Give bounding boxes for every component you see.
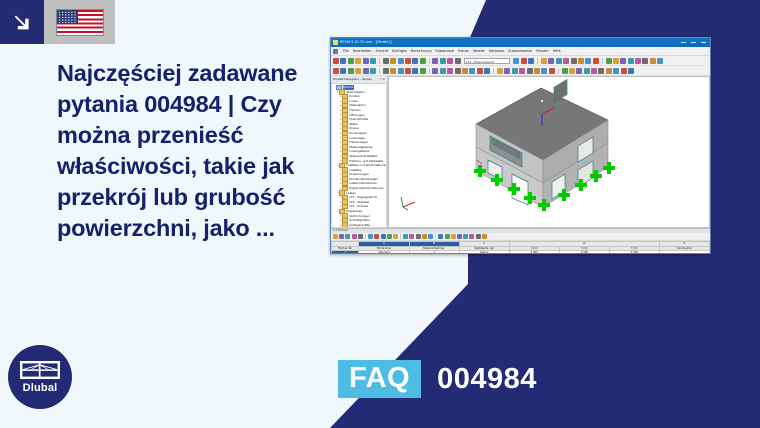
- table-toolbar-button[interactable]: [393, 234, 398, 239]
- table-toolbar[interactable]: [331, 233, 710, 241]
- workspace: Projekt-Navigator - Zeiger ⌐× -Model1+St…: [331, 76, 710, 228]
- toolbar-button[interactable]: [519, 68, 525, 74]
- table-toolbar-button[interactable]: [428, 234, 433, 239]
- folder-icon: [339, 227, 345, 228]
- toolbar-button[interactable]: [432, 58, 438, 64]
- toolbar-button[interactable]: [420, 68, 426, 74]
- toolbar-button[interactable]: [412, 68, 418, 74]
- table-toolbar-button[interactable]: [368, 234, 373, 239]
- table-toolbar-button[interactable]: [463, 234, 468, 239]
- toolbar-button[interactable]: [576, 68, 582, 74]
- toolbar-button[interactable]: [584, 68, 590, 74]
- truss-frame-icon: [20, 361, 60, 382]
- window-controls[interactable]: [681, 42, 708, 43]
- toolbar-separator: [379, 58, 380, 64]
- table-toolbar-button[interactable]: [381, 234, 386, 239]
- arrow-down-right-icon[interactable]: [0, 0, 44, 44]
- table-cell[interactable]: [659, 251, 709, 254]
- table-cell[interactable]: Isotrop: [459, 251, 509, 254]
- menu-item[interactable]: Zusatzmodule: [508, 47, 532, 55]
- table-row[interactable]: 1Standard1Isotrop0.3000.3000.300: [332, 251, 710, 254]
- toolbar-button[interactable]: [420, 58, 426, 64]
- faq-badge: FAQ: [338, 360, 421, 398]
- navigator-title-text: Projekt-Navigator - Zeiger: [333, 76, 372, 83]
- model-viewport[interactable]: [388, 76, 710, 228]
- top-left-badge-row: [0, 0, 115, 44]
- toolbar-button[interactable]: [390, 58, 396, 64]
- toolbar-button[interactable]: [462, 68, 468, 74]
- toolbar-button[interactable]: [562, 68, 568, 74]
- menu-item[interactable]: Fenster: [536, 47, 549, 55]
- application-window[interactable]: RFEM 5.21.01.xxx - [Model1] Plik Bearbei…: [330, 37, 711, 254]
- toolbar-separator: [558, 68, 559, 74]
- table-toolbar-button[interactable]: [476, 234, 481, 239]
- tree-node-label: Ausdruckprotokoll: [346, 227, 372, 228]
- toolbar-button[interactable]: [383, 68, 389, 74]
- toolbar-button[interactable]: [548, 58, 554, 64]
- maximize-icon[interactable]: [691, 42, 696, 43]
- toolbar-button[interactable]: [432, 68, 438, 74]
- flag-stars: [58, 11, 77, 24]
- toolbar-separator: [537, 58, 538, 64]
- table-toolbar-button[interactable]: [451, 234, 456, 239]
- toolbar-button[interactable]: [585, 58, 591, 64]
- table-toolbar-button[interactable]: [333, 234, 338, 239]
- table-toolbar-button[interactable]: [409, 234, 414, 239]
- toolbar-button[interactable]: [477, 68, 483, 74]
- menu-item[interactable]: Optionen: [489, 47, 505, 55]
- navigator-tree[interactable]: -Model1+Stammdaten+Knoten+Linien+Materia…: [331, 84, 387, 228]
- toolbar-button[interactable]: [628, 58, 634, 64]
- toolbar-button[interactable]: [363, 58, 369, 64]
- toolbar-button[interactable]: [348, 68, 354, 74]
- toolbar-separator: [429, 68, 430, 74]
- toolbar-button[interactable]: [440, 68, 446, 74]
- minimize-icon[interactable]: [681, 42, 686, 43]
- table-cell[interactable]: 0.300: [609, 251, 659, 254]
- toolbar-button[interactable]: [469, 68, 475, 74]
- toolbar-button[interactable]: [440, 58, 446, 64]
- toolbar-separator: [429, 58, 430, 64]
- table-cell[interactable]: 1: [332, 251, 359, 254]
- toolbar-separator: [435, 234, 436, 239]
- toolbar-button[interactable]: [635, 58, 641, 64]
- toolbar-button[interactable]: [591, 68, 597, 74]
- toolbar-button[interactable]: [363, 68, 369, 74]
- us-flag-icon[interactable]: [44, 0, 115, 44]
- toolbar-separator: [365, 234, 366, 239]
- toolbar-button[interactable]: [549, 68, 555, 74]
- toolbar-button[interactable]: [333, 58, 339, 64]
- flag-canton: [57, 10, 78, 25]
- toolbar-button[interactable]: [513, 58, 519, 64]
- table-toolbar-button[interactable]: [482, 234, 487, 239]
- table-toolbar-button[interactable]: [422, 234, 427, 239]
- table-toolbar-button[interactable]: [438, 234, 443, 239]
- toolbar-button[interactable]: [405, 68, 411, 74]
- main-toolbar[interactable]: LF1 - Eigengewicht: [331, 56, 710, 66]
- menu-app-icon: [333, 49, 338, 54]
- toolbar-button[interactable]: [534, 68, 540, 74]
- toolbar-button[interactable]: [398, 68, 404, 74]
- menu-item[interactable]: Ergebnisse: [435, 47, 454, 55]
- menu-item[interactable]: Berechnung: [411, 47, 431, 55]
- table-toolbar-button[interactable]: [445, 234, 450, 239]
- app-icon: [333, 40, 338, 45]
- toolbar-button[interactable]: [621, 68, 627, 74]
- toolbar-button[interactable]: [606, 58, 612, 64]
- toolbar-button[interactable]: [541, 58, 547, 64]
- menu-item[interactable]: Tabelle: [473, 47, 485, 55]
- table-toolbar-button[interactable]: [339, 234, 344, 239]
- table-toolbar-button[interactable]: [352, 234, 357, 239]
- toolbar-separator: [400, 234, 401, 239]
- menu-item[interactable]: Hilfe: [553, 47, 561, 55]
- toolbar-button[interactable]: [405, 58, 411, 64]
- toolbar-button[interactable]: [527, 68, 533, 74]
- table-panel[interactable]: 1.4 Flächen ABCDE Flächen Nr.Bindenlinie…: [331, 228, 710, 254]
- close-icon[interactable]: [701, 42, 706, 43]
- folder-icon: [342, 222, 348, 227]
- slide-canvas: Najczęściej zadawane pytania 004984 | Cz…: [0, 0, 760, 428]
- page-title: Najczęściej zadawane pytania 004984 | Cz…: [57, 58, 332, 244]
- toolbar-button[interactable]: [398, 58, 404, 64]
- flag-graphic: [56, 9, 104, 36]
- window-titlebar: RFEM 5.21.01.xxx - [Model1]: [331, 38, 710, 47]
- toolbar-button[interactable]: [521, 58, 527, 64]
- toolbar-button[interactable]: [348, 58, 354, 64]
- table-toolbar-button[interactable]: [345, 234, 350, 239]
- toolbar-button[interactable]: [528, 58, 534, 64]
- toolbar-button[interactable]: [598, 68, 604, 74]
- menu-item[interactable]: Einfügen: [392, 47, 407, 55]
- faq-strip: FAQ 004984: [338, 360, 537, 398]
- table-cell[interactable]: 0.300: [559, 251, 609, 254]
- project-navigator[interactable]: Projekt-Navigator - Zeiger ⌐× -Model1+St…: [331, 76, 388, 228]
- toolbar-separator: [493, 68, 494, 74]
- menu-bar[interactable]: Plik Bearbeiten Ansicht Einfügen Berechn…: [331, 47, 710, 56]
- toolbar-button[interactable]: [541, 68, 547, 74]
- toolbar-button[interactable]: [390, 68, 396, 74]
- menu-item[interactable]: Ansicht: [376, 47, 389, 55]
- toolbar-separator: [602, 58, 603, 64]
- toolbar-button[interactable]: [620, 58, 626, 64]
- table-toolbar-button[interactable]: [457, 234, 462, 239]
- data-grid[interactable]: ABCDE Flächen Nr.BindenlinieMaterial Num…: [331, 241, 710, 254]
- navigator-title: Projekt-Navigator - Zeiger ⌐×: [331, 76, 387, 84]
- toolbar-button[interactable]: [455, 58, 461, 64]
- table-toolbar-button[interactable]: [403, 234, 408, 239]
- menu-item[interactable]: Extras: [458, 47, 469, 55]
- toolbar-button[interactable]: [606, 68, 612, 74]
- window-title: RFEM 5.21.01.xxx - [Model1]: [340, 40, 681, 45]
- navigator-pin-icon[interactable]: ⌐×: [380, 76, 385, 83]
- toolbar-button[interactable]: [642, 58, 648, 64]
- toolbar-button[interactable]: [657, 58, 663, 64]
- table-cell[interactable]: Standard: [359, 251, 409, 254]
- toolbar-button[interactable]: [650, 58, 656, 64]
- toolbar-button[interactable]: [578, 58, 584, 64]
- dlubal-logo[interactable]: Dlubal: [8, 345, 72, 409]
- toolbar-button[interactable]: [355, 68, 361, 74]
- table-cell[interactable]: 1: [409, 251, 459, 254]
- toolbar-button[interactable]: [613, 58, 619, 64]
- table-toolbar-button[interactable]: [469, 234, 474, 239]
- toolbar-button[interactable]: [556, 58, 562, 64]
- toolbar-button[interactable]: [563, 58, 569, 64]
- table-cell[interactable]: 0.300: [509, 251, 559, 254]
- toolbar-button[interactable]: [455, 68, 461, 74]
- toolbar-button[interactable]: [412, 58, 418, 64]
- toolbar-button[interactable]: [504, 68, 510, 74]
- toolbar-button[interactable]: [628, 68, 634, 74]
- faq-number: 004984: [437, 364, 537, 394]
- surfaces-table[interactable]: ABCDE Flächen Nr.BindenlinieMaterial Num…: [331, 241, 710, 254]
- toolbar-button[interactable]: [383, 58, 389, 64]
- table-toolbar-button[interactable]: [358, 234, 363, 239]
- menu-item[interactable]: Bearbeiten: [353, 47, 372, 55]
- toolbar-button[interactable]: [370, 58, 376, 64]
- table-toolbar-button[interactable]: [387, 234, 392, 239]
- toolbar-button[interactable]: [484, 68, 490, 74]
- loadcase-combo[interactable]: LF1 - Eigengewicht: [464, 58, 510, 64]
- toolbar-button[interactable]: [370, 68, 376, 74]
- tree-node[interactable]: +Ausdruckprotokoll: [333, 227, 386, 228]
- toolbar-button[interactable]: [355, 58, 361, 64]
- toolbar-button[interactable]: [613, 68, 619, 74]
- menu-item[interactable]: Plik: [343, 47, 349, 55]
- toolbar-button[interactable]: [593, 58, 599, 64]
- table-toolbar-button[interactable]: [416, 234, 421, 239]
- toolbar-separator: [379, 68, 380, 74]
- toolbar-button[interactable]: [333, 68, 339, 74]
- toolbar-button[interactable]: [569, 68, 575, 74]
- toolbar-button[interactable]: [340, 58, 346, 64]
- toolbar-button[interactable]: [512, 68, 518, 74]
- toolbar-button[interactable]: [447, 58, 453, 64]
- global-axes-icon: [399, 193, 417, 211]
- toolbar-button[interactable]: [497, 68, 503, 74]
- table-toolbar-button[interactable]: [374, 234, 379, 239]
- toolbar-button[interactable]: [571, 58, 577, 64]
- logo-wordmark: Dlubal: [23, 383, 58, 394]
- toolbar-button[interactable]: [340, 68, 346, 74]
- building-model-3d[interactable]: [438, 74, 648, 224]
- toolbar-button[interactable]: [447, 68, 453, 74]
